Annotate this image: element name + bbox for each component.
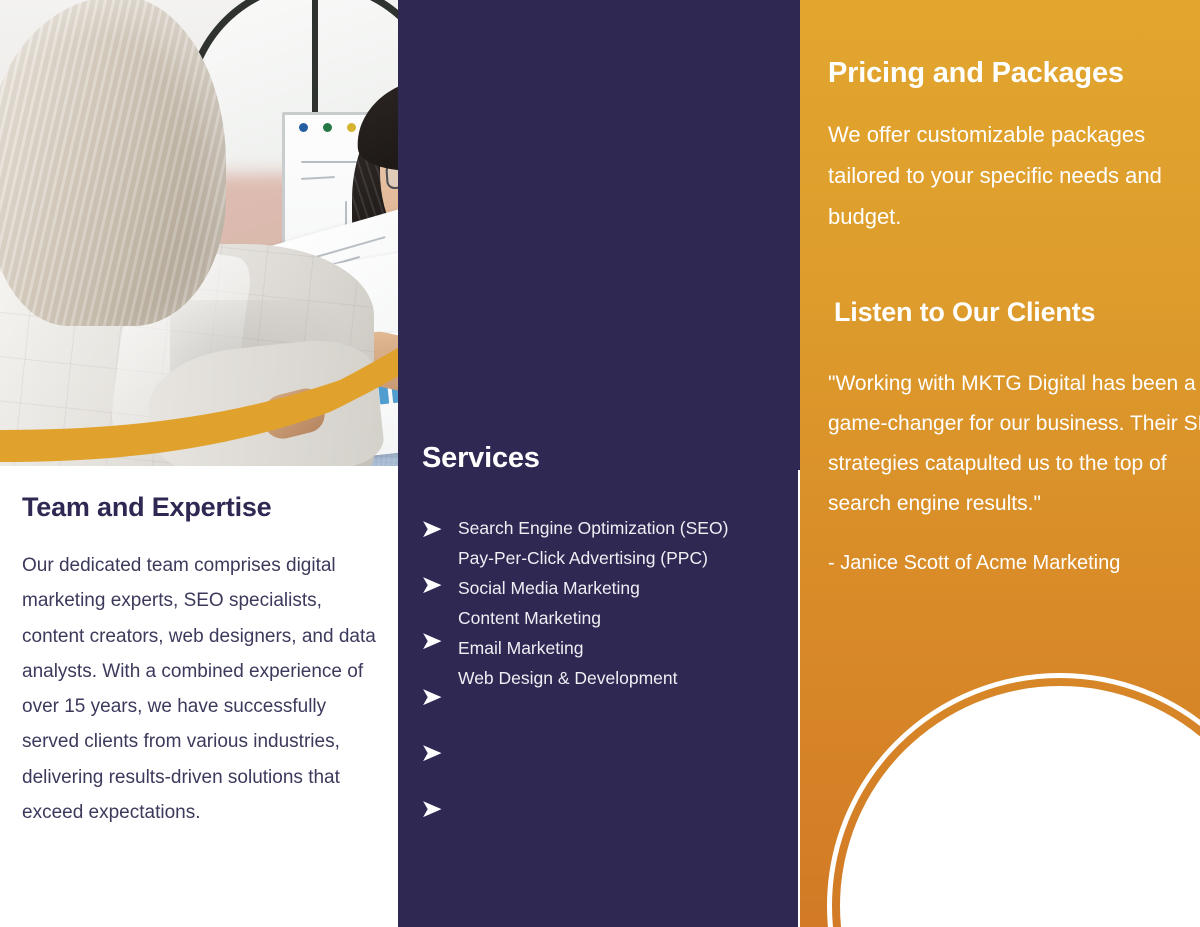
bullet-row: ➤ bbox=[421, 735, 455, 791]
pricing-testimonial-panel: Pricing and Packages We offer customizab… bbox=[800, 0, 1200, 927]
arrow-right-icon: ➤ bbox=[420, 517, 443, 542]
person-left-hair bbox=[0, 0, 226, 326]
bullet-row: ➤ bbox=[421, 791, 455, 847]
arrow-right-icon: ➤ bbox=[420, 629, 443, 654]
services-heading: Services bbox=[422, 442, 540, 475]
services-list: Search Engine Optimization (SEO) Pay-Per… bbox=[458, 513, 788, 693]
bullet-row: ➤ bbox=[421, 567, 455, 623]
arrow-right-icon: ➤ bbox=[420, 573, 443, 598]
bullet-row: ➤ bbox=[421, 679, 455, 735]
service-item[interactable]: Content Marketing bbox=[458, 603, 788, 633]
bullet-row: ➤ bbox=[421, 623, 455, 679]
testimonial-heading: Listen to Our Clients bbox=[834, 297, 1095, 328]
testimonial-quote: "Working with MKTG Digital has been a ga… bbox=[828, 364, 1200, 524]
whiteboard-scribble bbox=[301, 176, 335, 180]
whiteboard-magnet-green bbox=[323, 123, 332, 132]
whiteboard-magnet-yellow bbox=[347, 123, 356, 132]
team-expertise-panel: Team and Expertise Our dedicated team co… bbox=[0, 470, 398, 927]
decorative-circle-fill bbox=[840, 686, 1200, 927]
team-body-text: Our dedicated team comprises digital mar… bbox=[22, 548, 380, 830]
service-item[interactable]: Email Marketing bbox=[458, 633, 788, 663]
services-panel: Services ➤ ➤ ➤ ➤ ➤ ➤ Search Engine Optim… bbox=[398, 0, 798, 927]
pricing-body-text: We offer customizable packages tailored … bbox=[828, 114, 1200, 237]
team-heading: Team and Expertise bbox=[22, 492, 272, 523]
bullet-row: ➤ bbox=[421, 511, 455, 567]
arrow-right-icon: ➤ bbox=[420, 797, 443, 822]
service-item[interactable]: Search Engine Optimization (SEO) bbox=[458, 513, 788, 543]
services-bullet-column: ➤ ➤ ➤ ➤ ➤ ➤ bbox=[421, 511, 455, 847]
arrow-right-icon: ➤ bbox=[420, 741, 443, 766]
whiteboard-scribble bbox=[301, 161, 363, 163]
arrow-right-icon: ➤ bbox=[420, 685, 443, 710]
brochure-page: Services ➤ ➤ ➤ ➤ ➤ ➤ Search Engine Optim… bbox=[0, 0, 1200, 927]
service-item[interactable]: Social Media Marketing bbox=[458, 573, 788, 603]
whiteboard-magnet-blue bbox=[299, 123, 308, 132]
service-item[interactable]: Pay-Per-Click Advertising (PPC) bbox=[458, 543, 788, 573]
service-item[interactable]: Web Design & Development bbox=[458, 663, 788, 693]
pricing-heading: Pricing and Packages bbox=[828, 57, 1124, 90]
testimonial-attribution: - Janice Scott of Acme Marketing bbox=[828, 548, 1200, 578]
